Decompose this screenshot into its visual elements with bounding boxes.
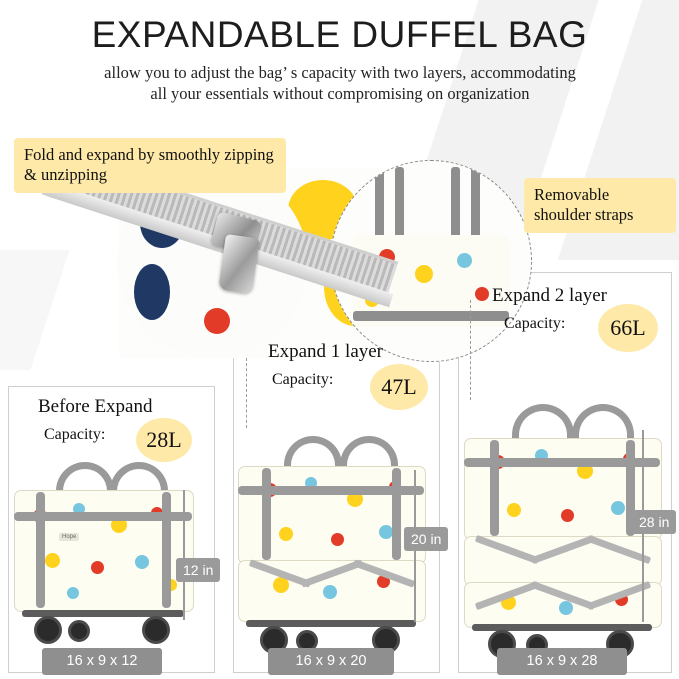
connector-dash-1 xyxy=(246,358,247,428)
bag3-side-strap-left xyxy=(490,440,499,536)
bag2-floral-7 xyxy=(379,525,393,539)
bag2-floral-9 xyxy=(323,585,337,599)
floral-yellow-3 xyxy=(415,265,433,283)
panel-before-expand-capacity-bubble: 28L xyxy=(136,418,192,462)
bag3-floral-9 xyxy=(559,601,573,615)
bag-before-expand: Hope xyxy=(14,452,196,652)
bag1-floral-7 xyxy=(135,555,149,569)
panel-expand-1-title: Expand 1 layer xyxy=(268,341,383,363)
floral-blue-1 xyxy=(457,253,472,268)
bag2-floral-5 xyxy=(279,527,293,541)
bag1-height-bar xyxy=(183,490,185,620)
product-infographic: EXPANDABLE DUFFEL BAG allow you to adjus… xyxy=(0,0,679,679)
floral-navy-4 xyxy=(134,264,170,320)
bag1-wheel-mid xyxy=(68,620,90,642)
bag1-dimensions-label: 16 x 9 x 12 xyxy=(42,648,162,675)
bag1-wheel-right xyxy=(142,616,170,644)
bag1-brand-tag: Hope xyxy=(59,533,79,541)
panel-before-expand-capacity-label: Capacity: xyxy=(44,426,105,444)
bag3-dimensions-label: 16 x 9 x 28 xyxy=(497,648,627,675)
page-subtitle: allow you to adjust the bag’ s capacity … xyxy=(50,62,630,104)
bag3-floral-6 xyxy=(561,509,574,522)
floral-red-5 xyxy=(475,287,489,301)
bag3-floral-7 xyxy=(611,501,625,515)
bag3-floral-5 xyxy=(507,503,521,517)
panel-before-expand-title: Before Expand xyxy=(38,396,152,418)
subtitle-line-2: all your essentials without compromising… xyxy=(150,84,529,103)
bag1-floral-5 xyxy=(45,553,60,568)
panel-expand-2-capacity-bubble: 66L xyxy=(598,304,658,352)
bag1-height-label: 12 in xyxy=(176,558,220,582)
bag2-side-strap-right xyxy=(392,468,401,560)
panel-expand-2-capacity-label: Capacity: xyxy=(504,315,565,333)
bag1-side-strap-left xyxy=(36,492,45,608)
subtitle-line-1: allow you to adjust the bag’ s capacity … xyxy=(104,63,576,82)
bag2-floral-6 xyxy=(331,533,344,546)
connector-dash-2 xyxy=(470,300,471,400)
background-stripe-3 xyxy=(0,250,69,370)
callout-straps: Removable shoulder straps xyxy=(524,178,676,233)
bag1-side-strap-right xyxy=(162,492,171,608)
bag-expand-1-layer xyxy=(238,430,428,655)
callout-zipper: Fold and expand by smoothly zipping & un… xyxy=(14,138,286,193)
panel-expand-2-title: Expand 2 layer xyxy=(492,285,607,307)
page-title: EXPANDABLE DUFFEL BAG xyxy=(0,14,679,56)
bag1-floral-9 xyxy=(67,587,79,599)
panel-expand-1-capacity-bubble: 47L xyxy=(370,364,428,410)
bag2-height-label: 20 in xyxy=(404,527,448,551)
bag3-height-label: 28 in xyxy=(632,510,676,534)
panel-expand-1-capacity-label: Capacity: xyxy=(272,371,333,389)
bag2-dimensions-label: 16 x 9 x 20 xyxy=(268,648,394,675)
strap-bottom-band xyxy=(353,311,509,321)
bag1-wheel-left xyxy=(34,616,62,644)
bag2-side-strap-left xyxy=(262,468,271,560)
bag1-floral-6 xyxy=(91,561,104,574)
floral-red-3 xyxy=(204,308,230,334)
